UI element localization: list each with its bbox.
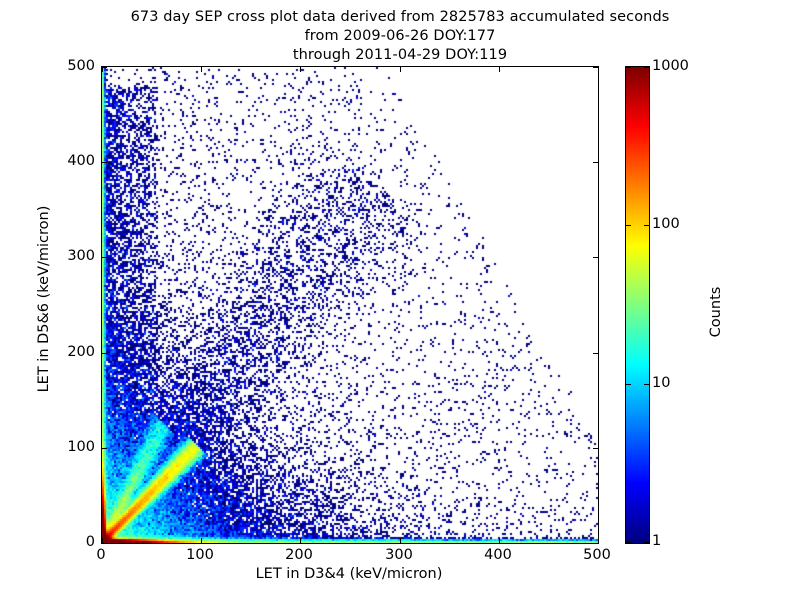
y-tick-mark: [593, 353, 598, 354]
x-tick-label: 400: [484, 547, 512, 563]
x-axis-label: LET in D3&4 (keV/micron): [101, 566, 597, 582]
title-line-2: from 2009-06-26 DOY:177: [0, 27, 800, 46]
x-tick-label: 200: [285, 547, 313, 563]
colorbar-tick-mark: [644, 384, 649, 385]
x-tick-mark: [400, 67, 401, 72]
x-tick-label: 500: [583, 547, 611, 563]
y-tick-mark: [593, 543, 598, 544]
colorbar-tick-mark: [626, 67, 631, 68]
colorbar: [625, 66, 650, 544]
x-tick-label: 300: [385, 547, 413, 563]
figure-canvas: 673 day SEP cross plot data derived from…: [0, 0, 800, 600]
colorbar-tick-mark: [644, 67, 649, 68]
colorbar-tick-mark: [626, 384, 631, 385]
x-tick-mark: [598, 67, 599, 72]
colorbar-gradient: [626, 67, 649, 543]
main-plot-axes: [101, 66, 599, 544]
x-axis-tick-labels: 0100200300400500: [101, 547, 597, 567]
x-tick-mark: [598, 538, 599, 543]
y-tick-label: 0: [86, 534, 95, 550]
colorbar-tick-mark: [644, 225, 649, 226]
figure-title: 673 day SEP cross plot data derived from…: [0, 8, 800, 65]
title-line-1: 673 day SEP cross plot data derived from…: [0, 8, 800, 27]
y-axis-label: LET in D5&6 (keV/micron): [36, 169, 52, 429]
y-tick-mark: [593, 448, 598, 449]
x-tick-mark: [300, 538, 301, 543]
colorbar-label: Counts: [708, 242, 724, 382]
y-tick-label: 300: [67, 248, 95, 264]
colorbar-tick-label: 1: [652, 533, 661, 549]
x-tick-mark: [102, 538, 103, 543]
x-tick-mark: [300, 67, 301, 72]
colorbar-tick-labels: 1101001000: [652, 66, 712, 542]
y-tick-label: 200: [67, 344, 95, 360]
y-tick-mark: [102, 543, 107, 544]
y-tick-mark: [593, 257, 598, 258]
colorbar-tick-mark: [626, 542, 631, 543]
x-tick-mark: [400, 538, 401, 543]
colorbar-tick-label: 100: [652, 216, 680, 232]
x-tick-mark: [499, 67, 500, 72]
colorbar-tick-label: 1000: [652, 58, 689, 74]
y-tick-mark: [593, 162, 598, 163]
y-tick-mark: [102, 448, 107, 449]
y-tick-mark: [102, 353, 107, 354]
density-scatter-plot: [102, 67, 598, 543]
y-tick-label: 500: [67, 58, 95, 74]
x-tick-label: 100: [186, 547, 214, 563]
y-tick-mark: [102, 162, 107, 163]
x-tick-mark: [499, 538, 500, 543]
x-tick-label: 0: [96, 547, 105, 563]
y-tick-label: 400: [67, 153, 95, 169]
x-tick-mark: [201, 67, 202, 72]
colorbar-tick-mark: [626, 225, 631, 226]
x-tick-mark: [201, 538, 202, 543]
colorbar-tick-label: 10: [652, 375, 670, 391]
x-tick-mark: [102, 67, 103, 72]
y-tick-mark: [102, 257, 107, 258]
y-tick-label: 100: [67, 439, 95, 455]
colorbar-tick-mark: [644, 542, 649, 543]
